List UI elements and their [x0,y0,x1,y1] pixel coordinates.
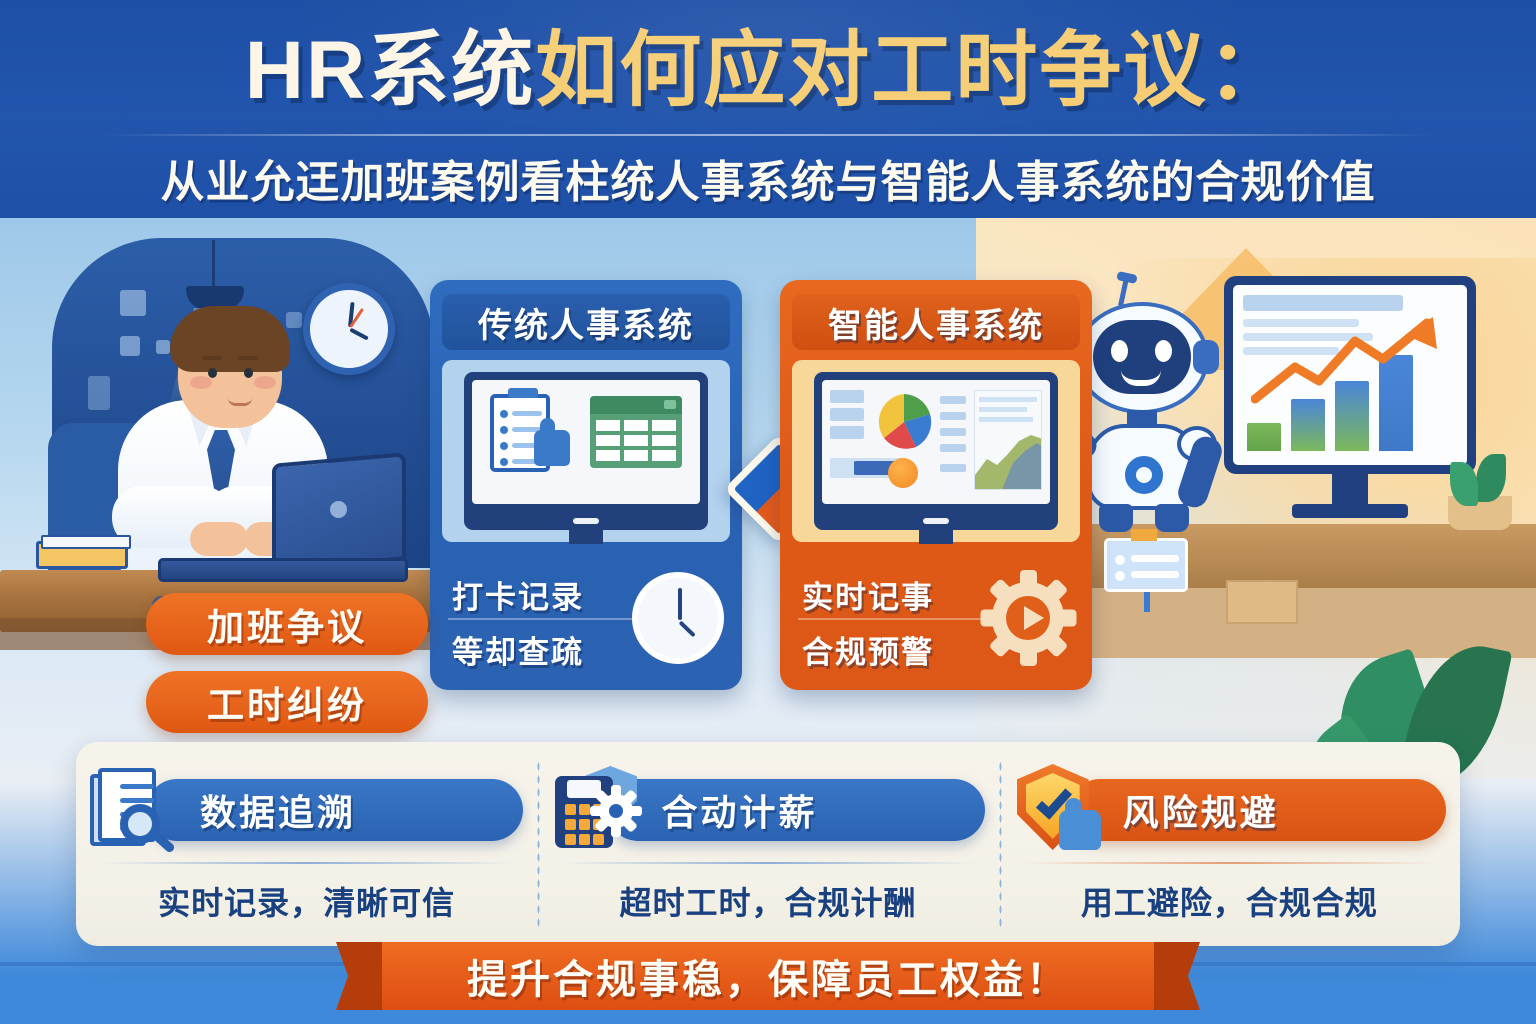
monitor-power-button [573,518,599,524]
monitor-smart-screen [822,380,1050,504]
dashboard-block [830,390,864,403]
window-pane [156,340,170,354]
pendant-lamp-cord [212,240,215,288]
issue-pill-overtime-dispute[interactable]: 加班争议 [146,593,428,655]
sign-bullet [1115,571,1125,581]
bottom-ribbon: 提升合规事稳，保障员工权益！ [382,942,1154,1010]
cardboard-box [1226,580,1298,624]
feature-trace[interactable]: 数据追溯 实时记录，清晰可信 [76,742,537,946]
page-title-primary: HR系统 [245,25,535,116]
robot-core-icon [1125,456,1163,494]
robot-ear [1193,340,1219,374]
clock-icon [632,572,724,664]
feature-risk-label: 风险规避 [1069,779,1446,841]
issue-pill-hours-conflict[interactable]: 工时纠纷 [146,671,428,733]
wall-clock-icon [303,283,395,375]
card-traditional-screen-area [442,360,730,542]
robot-leg-right [1155,504,1189,532]
sign-line [1131,571,1179,578]
card-footer-separator [798,618,994,620]
header-band: HR系统如何应对工时争议： 从业允迋加班案例看柱统人事系统与智能人事系统的合规价… [0,0,1536,218]
dashboard-label [940,444,966,452]
person-brow-left [202,356,222,360]
monitor-growth-chart [1224,276,1476,474]
infographic-poster: HR系统如何应对工时争议： 从业允迋加班案例看柱统人事系统与智能人事系统的合规价… [0,0,1536,1024]
green-spreadsheet-icon [590,396,682,468]
sign-bullet [1115,555,1125,565]
chart-header-bar [1243,295,1403,311]
header-divider [100,134,1436,136]
feature-risk-caption: 用工避险，合规合规 [1013,878,1446,924]
feature-trace-label: 数据追溯 [146,779,523,841]
sign-stand [1144,592,1150,612]
window-pane [120,290,146,316]
feature-trace-caption: 实时记录，清晰可信 [90,878,523,924]
gear-play-icon [982,572,1074,664]
issue-pill-stack: 加班争议 工时纠纷 [146,593,428,749]
gear-shape [982,572,1074,664]
card-traditional-system[interactable]: 传统人事系统 [430,280,742,690]
donut-metric-icon [888,458,918,488]
illustration-stage: 传统人事系统 [0,218,1536,1024]
monitor-neck [919,530,953,544]
robot-eye-right [1155,340,1172,362]
page-title-secondary: 如何应对工时争议： [535,25,1291,116]
monitor-neck [569,530,603,544]
card-smart-footer: 实时记事 合规预警 [792,560,1080,684]
dashboard-label [940,464,966,472]
window-pane [88,376,110,410]
robot-eye-left [1111,340,1128,362]
feature-risk-row: 风险规避 [1013,768,1446,852]
dashboard-block [830,408,864,421]
laptop-keyboard [158,558,408,582]
info-sign-icon [1104,538,1188,592]
feature-payroll[interactable]: 合动计薪 超时工时，合规计酬 [537,742,998,946]
feature-underline [559,862,976,864]
monitor-smart [814,372,1058,530]
dashboard-label [940,412,966,420]
thumbs-up-icon [534,430,570,466]
plant-leaf [1476,454,1506,502]
feature-payroll-label: 合动计薪 [607,779,984,841]
chart-bar [1247,423,1281,451]
robot-dashboard-scene [1076,238,1536,708]
person-cheek-left [190,376,212,389]
page-title: HR系统如何应对工时争议： [0,28,1536,114]
feature-payroll-caption: 超时工时，合规计酬 [551,878,984,924]
sign-line [1131,555,1179,562]
ribbon-text: 提升合规事稳，保障员工权益！ [467,947,1069,1005]
pie-chart-icon [874,392,934,452]
page-subtitle: 从业允迋加班案例看柱统人事系统与智能人事系统的合规价值 [0,146,1536,210]
monitor-foot [1292,504,1408,518]
person-cheek-right [254,376,276,389]
clock-second-hand [349,308,364,328]
person-hair [170,306,290,372]
play-triangle-icon [1024,606,1044,630]
window-pane [120,336,140,356]
feature-trace-row: 数据追溯 [90,768,523,852]
dashboard-block [830,426,864,439]
dashboard-label [940,396,966,404]
person-hand-left [190,522,248,556]
feature-underline [98,862,515,864]
shield-check-thumb-icon [1013,764,1109,856]
employee-at-desk-scene [0,218,440,638]
window-pane [286,312,302,328]
card-smart-system[interactable]: 智能人事系统 [780,280,1092,690]
person-brow-right [238,356,258,360]
card-traditional-title: 传统人事系统 [442,294,730,350]
card-smart-title: 智能人事系统 [792,294,1080,350]
laptop-logo [330,501,347,518]
rising-trend-arrow-icon [1251,315,1441,407]
card-footer-separator [448,618,644,620]
person-eye-right [244,368,253,378]
monitor-traditional [464,372,708,530]
monitor-stand [1332,474,1368,506]
book-icon [36,541,128,569]
feature-risk[interactable]: 风险规避 用工避险，合规合规 [999,742,1460,946]
card-smart-screen-area [792,360,1080,542]
document-magnifier-icon [90,764,186,856]
monitor-power-button [923,518,949,524]
feature-underline [1021,862,1438,864]
feature-payroll-row: 合动计薪 [551,768,984,852]
area-chart-icon [974,390,1042,490]
calculator-gear-shield-icon [551,764,647,856]
dashboard-label [940,428,966,436]
card-traditional-footer: 打卡记录 等却查疏 [442,560,730,684]
monitor-traditional-screen [472,380,700,504]
system-comparison-cards: 传统人事系统 [430,280,1112,700]
monitor-screen [1233,285,1467,465]
feature-panel: 数据追溯 实时记录，清晰可信 [76,742,1460,946]
person-eye-left [208,368,217,378]
clock-face [632,572,724,664]
